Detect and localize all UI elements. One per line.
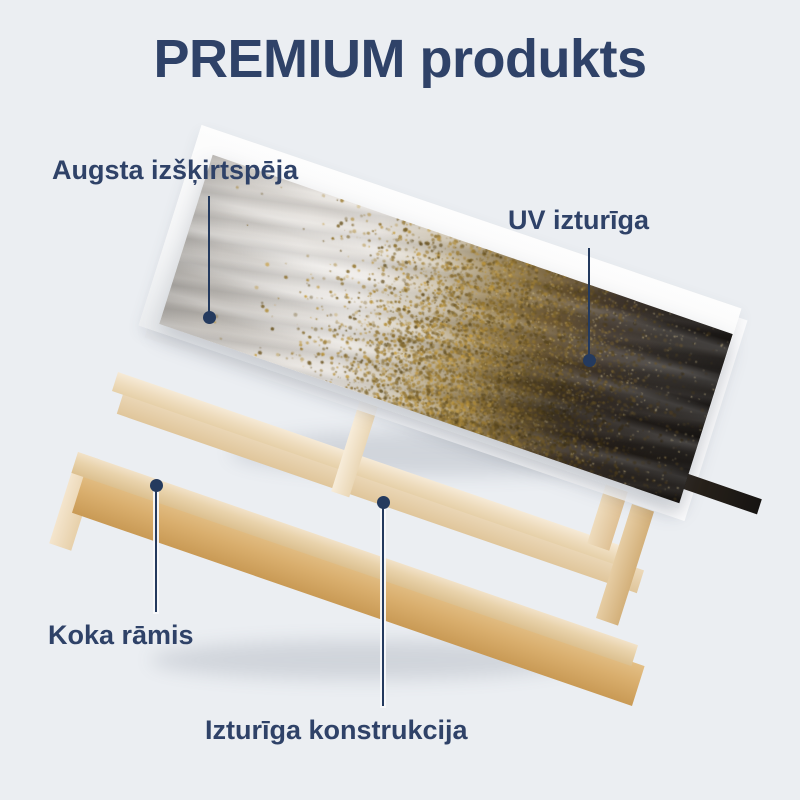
leader-dot-frame	[150, 479, 163, 492]
page-title: PREMIUM produkts	[0, 28, 800, 90]
leader-dot-uv	[583, 354, 596, 367]
callout-label-uv: UV izturīga	[508, 205, 649, 236]
leader-dot-resolution	[203, 311, 216, 324]
leader-line-frame	[155, 488, 157, 612]
callout-label-construction: Izturīga konstrukcija	[205, 715, 468, 746]
leader-line-resolution	[208, 196, 210, 317]
leader-line-uv	[588, 248, 590, 360]
leader-line-construction	[382, 505, 384, 706]
callout-label-resolution: Augsta izšķirtspēja	[52, 155, 298, 186]
infographic-root: PREMIUM produkts Augsta izšķirtspēja UV …	[0, 0, 800, 800]
callout-label-frame: Koka rāmis	[48, 620, 194, 651]
leader-dot-construction	[377, 496, 390, 509]
exploded-product-illustration	[0, 0, 800, 800]
